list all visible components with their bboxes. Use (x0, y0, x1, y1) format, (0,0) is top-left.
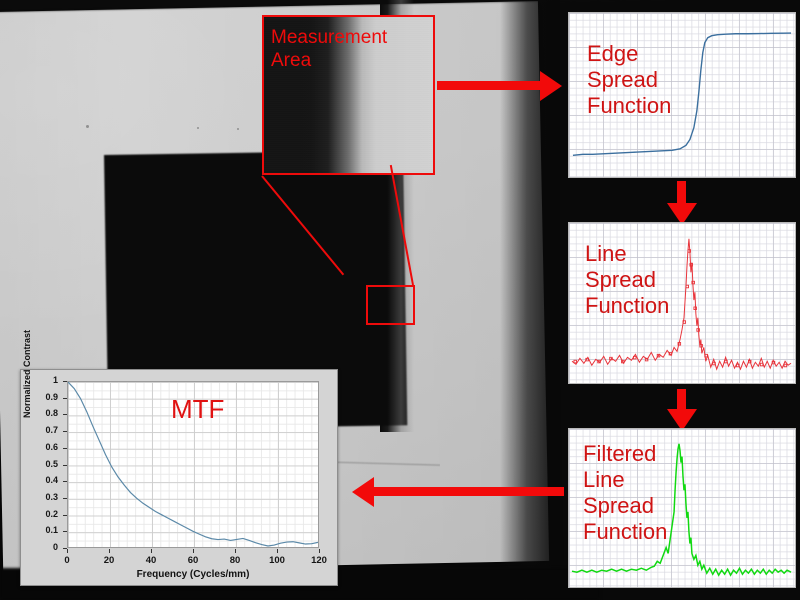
arrow-lsf-to-filtered-shaft (677, 389, 686, 411)
mtf-y-tick-mark (63, 515, 67, 516)
mtf-y-tick-label: 0 (53, 542, 58, 552)
line-spread-function-panel: Line Spread Function (568, 222, 796, 384)
arrow-to-mtf-shaft (374, 487, 564, 496)
photo-dust-speck (86, 125, 89, 128)
mtf-x-tick-mark (67, 549, 68, 553)
mtf-y-tick-label: 0.6 (45, 442, 58, 452)
photo-dust-speck (237, 128, 239, 130)
mtf-x-tick-label: 0 (53, 555, 81, 566)
mtf-x-tick-mark (235, 549, 236, 553)
mtf-x-tick-mark (193, 549, 194, 553)
mtf-x-tick-mark (277, 549, 278, 553)
mtf-x-tick-mark (151, 549, 152, 553)
mtf-y-tick-mark (63, 531, 67, 532)
mtf-y-tick-mark (63, 431, 67, 432)
mtf-x-tick-label: 60 (179, 555, 207, 566)
arrow-to-esf-shaft (437, 81, 541, 90)
esf-caption: Edge Spread Function (587, 41, 671, 119)
edge-spread-function-panel: Edge Spread Function (568, 12, 796, 178)
mtf-x-tick-label: 80 (221, 555, 249, 566)
mtf-x-tick-label: 40 (137, 555, 165, 566)
mtf-y-tick-label: 0.8 (45, 408, 58, 418)
figure-root: Measurement Area Edge Spread Function (0, 0, 800, 600)
mtf-x-tick-label: 100 (263, 555, 291, 566)
mtf-y-tick-label: 0.7 (45, 425, 58, 435)
lsf-caption: Line Spread Function (585, 241, 669, 319)
mtf-y-tick-mark (63, 481, 67, 482)
mtf-x-tick-mark (319, 549, 320, 553)
arrow-to-mtf-head (352, 477, 374, 507)
mtf-y-tick-mark (63, 448, 67, 449)
mtf-y-tick-label: 0.2 (45, 509, 58, 519)
mtf-y-tick-mark (63, 398, 67, 399)
mtf-y-axis-label: Normalized Contrast (22, 330, 32, 418)
mtf-chart-panel: 00.10.20.30.40.50.60.70.80.91 0204060801… (20, 369, 338, 586)
mtf-y-tick-label: 0.5 (45, 459, 58, 469)
mtf-x-axis-label: Frequency (Cycles/mm) (67, 569, 319, 580)
mtf-title: MTF (171, 394, 224, 425)
arrow-esf-to-lsf-shaft (677, 181, 686, 205)
mtf-y-tick-mark (63, 465, 67, 466)
arrow-to-esf-head (540, 71, 562, 101)
measurement-area-label: Measurement Area (271, 26, 387, 72)
filtered-lsf-caption: Filtered Line Spread Function (583, 441, 667, 545)
mtf-x-tick-label: 120 (305, 555, 333, 566)
mtf-y-tick-mark (63, 414, 67, 415)
filtered-line-spread-function-panel: Filtered Line Spread Function (568, 428, 796, 588)
roi-box (366, 285, 415, 325)
mtf-x-tick-mark (109, 549, 110, 553)
photo-dust-speck (197, 127, 199, 129)
mtf-y-tick-mark (63, 381, 67, 382)
mtf-x-tick-label: 20 (95, 555, 123, 566)
mtf-y-tick-label: 1 (53, 375, 58, 385)
mtf-y-tick-label: 0.9 (45, 392, 58, 402)
mtf-y-tick-label: 0.3 (45, 492, 58, 502)
mtf-y-tick-label: 0.1 (45, 525, 58, 535)
mtf-y-tick-label: 0.4 (45, 475, 58, 485)
mtf-y-tick-mark (63, 498, 67, 499)
